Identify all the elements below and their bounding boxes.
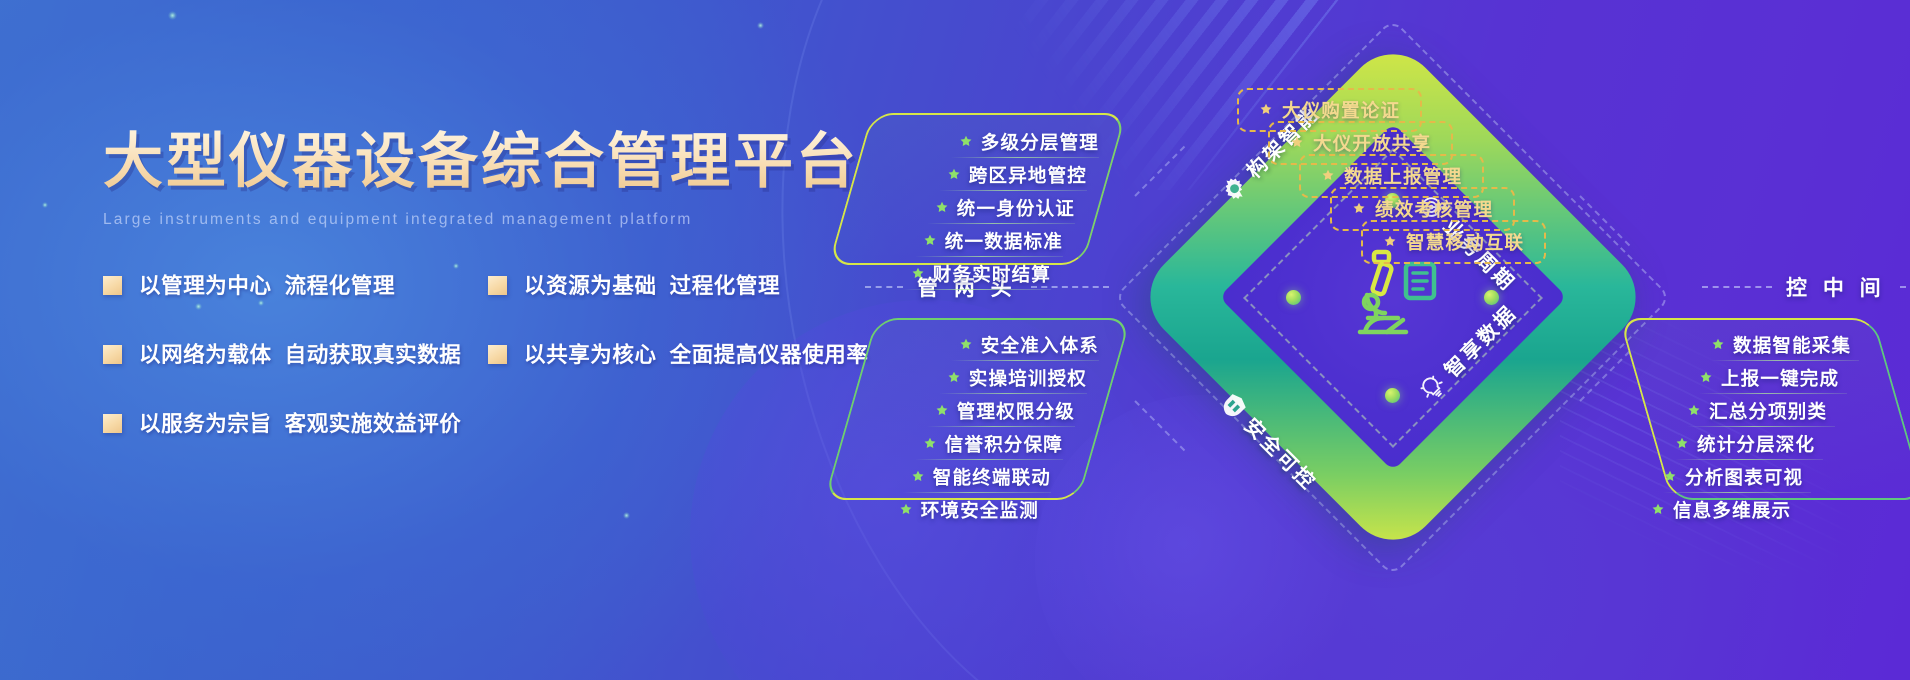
list-item: 环境安全监测: [850, 493, 1105, 526]
list-item: 统计分层深化: [1645, 427, 1900, 460]
feature-label: 以共享为核心全面提高仪器使用率: [524, 338, 869, 369]
star-bullet-icon: [947, 168, 961, 182]
group-item-list: 数据智能采集 上报一键完成 汇总分项别类 统计分层深化: [1645, 318, 1900, 536]
page-subtitle: Large instruments and equipment integrat…: [103, 211, 903, 229]
star-bullet-icon: [959, 135, 973, 149]
feature-label: 以管理为中心流程化管理: [139, 269, 395, 300]
star-bullet-icon: [1699, 371, 1713, 385]
square-bullet-icon: [103, 345, 122, 364]
star-bullet-icon: [1663, 470, 1677, 484]
list-item-label: 统计分层深化: [1697, 431, 1815, 457]
list-item-label: 上报一键完成: [1721, 365, 1839, 391]
list-item-label: 分析图表可视: [1685, 464, 1803, 490]
star-bullet-icon: [1321, 169, 1335, 183]
star-bullet-icon: [1290, 136, 1304, 150]
caption-right-text: 控 中 间: [1786, 272, 1886, 302]
sparkle-dot: [42, 202, 48, 208]
list-item: 跨区异地管控: [850, 158, 1105, 191]
pill-label: 绩效考核管理: [1375, 196, 1493, 222]
list-item: 分析图表可视: [1645, 460, 1900, 493]
pill-label: 大仪开放共享: [1313, 130, 1431, 156]
list-item-label: 信息多维展示: [1673, 497, 1791, 523]
list-item-label: 管理权限分级: [957, 398, 1075, 424]
star-bullet-icon: [1259, 103, 1273, 117]
star-bullet-icon: [923, 234, 937, 248]
feature-list: 以管理为中心流程化管理 以资源为基础过程化管理 以网络为载体自动获取真实数据 以…: [103, 269, 903, 438]
feature-label: 以服务为宗旨客观实施效益评价: [139, 407, 461, 438]
star-bullet-icon: [935, 201, 949, 215]
pill-item: 智慧移动互联: [1361, 220, 1546, 264]
list-item-label: 财务实时结算: [933, 261, 1051, 287]
group-top-left: 多级分层管理 跨区异地管控 统一身份认证 统一数据标准: [850, 113, 1105, 265]
group-item-list: 多级分层管理 跨区异地管控 统一身份认证 统一数据标准: [850, 113, 1105, 302]
star-bullet-icon: [899, 503, 913, 517]
list-item-label: 数据智能采集: [1733, 332, 1851, 358]
sparkle-dot: [168, 11, 177, 20]
sparkle-dot: [623, 512, 630, 519]
star-bullet-icon: [923, 437, 937, 451]
list-item-label: 智能终端联动: [933, 464, 1051, 490]
group-item-list: 安全准入体系 实操培训授权 管理权限分级 信誉积分保障: [850, 318, 1105, 536]
list-item: 统一身份认证: [850, 191, 1105, 224]
list-item: 汇总分项别类: [1645, 394, 1900, 427]
square-bullet-icon: [103, 276, 122, 295]
item-underline: [903, 289, 1051, 290]
list-item-label: 统一数据标准: [945, 228, 1063, 254]
caption-dash-left: [1702, 286, 1772, 288]
connector-line: [1134, 146, 1185, 197]
pill-label: 智慧移动互联: [1406, 229, 1524, 255]
list-item: 实操培训授权: [850, 361, 1105, 394]
star-bullet-icon: [1711, 338, 1725, 352]
connector-line: [1134, 400, 1185, 451]
feature-row: 以服务为宗旨客观实施效益评价: [103, 407, 903, 438]
list-item: 数据智能采集: [1645, 328, 1900, 361]
feature-label: 以资源为基础过程化管理: [524, 269, 780, 300]
star-bullet-icon: [1352, 202, 1366, 216]
list-item-label: 跨区异地管控: [969, 162, 1087, 188]
star-bullet-icon: [947, 371, 961, 385]
star-bullet-icon: [1675, 437, 1689, 451]
list-item: 上报一键完成: [1645, 361, 1900, 394]
star-bullet-icon: [1651, 503, 1665, 517]
inner-node-dot: [1385, 388, 1400, 403]
feature-row: 以网络为载体自动获取真实数据 以共享为核心全面提高仪器使用率: [103, 338, 903, 369]
star-bullet-icon: [935, 404, 949, 418]
star-bullet-icon: [911, 470, 925, 484]
list-item-label: 信誉积分保障: [945, 431, 1063, 457]
star-bullet-icon: [959, 338, 973, 352]
star-bullet-icon: [1383, 235, 1397, 249]
square-bullet-icon: [488, 276, 507, 295]
list-item-label: 汇总分项别类: [1709, 398, 1827, 424]
list-item-label: 安全准入体系: [981, 332, 1099, 358]
page-title: 大型仪器设备综合管理平台: [103, 128, 903, 195]
group-bottom-left: 安全准入体系 实操培训授权 管理权限分级 信誉积分保障: [850, 318, 1105, 500]
sparkle-dot: [757, 22, 764, 29]
feature-item: 以网络为载体自动获取真实数据: [103, 338, 488, 369]
list-item: 智能终端联动: [850, 460, 1105, 493]
architecture-diagram: 构架智能 业务周期 安全可控 智享数据 管 两 头: [1040, 0, 1910, 680]
list-item-label: 实操培训授权: [969, 365, 1087, 391]
list-item: 财务实时结算: [850, 257, 1105, 290]
feature-item: 以资源为基础过程化管理: [488, 269, 780, 300]
list-item-label: 统一身份认证: [957, 195, 1075, 221]
inner-node-dot: [1286, 290, 1301, 305]
feature-item: 以管理为中心流程化管理: [103, 269, 488, 300]
feature-item: 以共享为核心全面提高仪器使用率: [488, 338, 869, 369]
pill-label: 大仪购置论证: [1282, 97, 1400, 123]
square-bullet-icon: [103, 414, 122, 433]
caption-dash-right: [1900, 286, 1910, 288]
pill-label: 数据上报管理: [1344, 163, 1462, 189]
list-item: 信誉积分保障: [850, 427, 1105, 460]
list-item-label: 环境安全监测: [921, 497, 1039, 523]
hero-text-block: 大型仪器设备综合管理平台 Large instruments and equip…: [103, 128, 903, 455]
promo-banner: 大型仪器设备综合管理平台 Large instruments and equip…: [0, 0, 1910, 680]
list-item: 管理权限分级: [850, 394, 1105, 427]
feature-label: 以网络为载体自动获取真实数据: [139, 338, 461, 369]
caption-right: 控 中 间: [1702, 272, 1910, 302]
group-bottom-right: 数据智能采集 上报一键完成 汇总分项别类 统计分层深化: [1645, 318, 1900, 500]
list-item: 安全准入体系: [850, 328, 1105, 361]
feature-item: 以服务为宗旨客观实施效益评价: [103, 407, 488, 438]
list-item: 统一数据标准: [850, 224, 1105, 257]
star-bullet-icon: [911, 267, 925, 281]
list-item: 信息多维展示: [1645, 493, 1900, 526]
list-item: 多级分层管理: [850, 125, 1105, 158]
star-bullet-icon: [1687, 404, 1701, 418]
square-bullet-icon: [488, 345, 507, 364]
feature-row: 以管理为中心流程化管理 以资源为基础过程化管理: [103, 269, 903, 300]
list-item-label: 多级分层管理: [981, 129, 1099, 155]
